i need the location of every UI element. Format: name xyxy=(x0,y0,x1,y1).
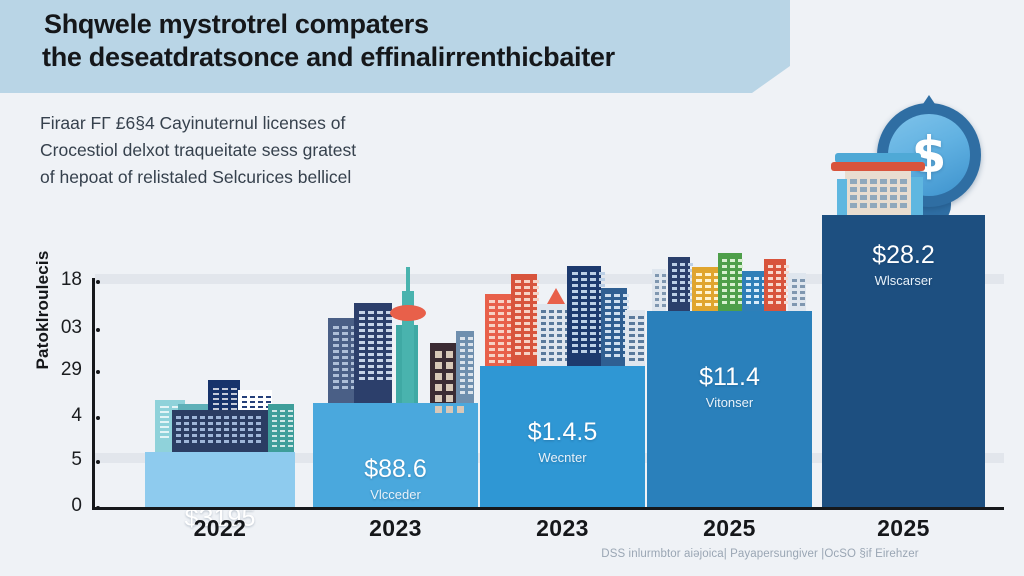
title-line-1: Shqwele mystrotrel compaters xyxy=(42,8,742,41)
building-shape xyxy=(837,179,847,215)
y-axis-title: Patoklroulecis xyxy=(33,205,53,415)
building-shape xyxy=(668,257,690,311)
subtitle-block: Firaar FΓ £6§4 Cayinuternul licenses of … xyxy=(40,110,510,191)
x-axis-line xyxy=(92,507,1004,510)
badge-face: $ xyxy=(888,114,970,196)
y-tick-label: 5 xyxy=(36,449,82,471)
x-tick-label-1: 2023 xyxy=(313,515,478,542)
bar-sub-label: Vitonser xyxy=(647,395,812,410)
building-shape xyxy=(652,269,666,311)
skyline-group xyxy=(485,256,645,366)
y-tick-label: 4 xyxy=(36,405,82,427)
y-tick-label: 03 xyxy=(36,317,82,339)
flag-marker-icon xyxy=(547,288,565,304)
building-shape xyxy=(742,271,764,311)
building-shape xyxy=(178,404,208,452)
building-shape xyxy=(567,266,601,366)
bar-sub-label: Wlscarser xyxy=(822,273,985,288)
tower-shaft xyxy=(402,291,414,403)
building-shape xyxy=(601,288,627,366)
y-tick-mark xyxy=(96,460,100,464)
building-shape xyxy=(625,310,645,366)
badge-ring: $ xyxy=(877,103,981,207)
bar-2023-2[interactable]: $1.4.5Wecnter xyxy=(480,366,645,507)
tower-pod xyxy=(390,305,426,321)
bar-2022-0[interactable]: $З195 xyxy=(145,452,295,507)
gridline-upper xyxy=(95,274,1004,284)
building-shape xyxy=(268,404,294,452)
building-shape xyxy=(692,267,718,311)
building-shape xyxy=(396,325,418,403)
x-tick-label-3: 2025 xyxy=(647,515,812,542)
building-shape xyxy=(155,400,185,452)
building-shape xyxy=(456,331,474,403)
building-shape xyxy=(788,273,806,311)
gridline-lower xyxy=(95,453,1004,463)
bar-value-label: $11.4 xyxy=(647,363,812,392)
y-tick-label: 0 xyxy=(36,495,82,517)
skyline-group xyxy=(318,288,478,403)
subtitle-line-3: of hepoat of relistaled Selcurices belli… xyxy=(40,164,510,191)
bar-value-label: $88.6 xyxy=(313,455,478,484)
y-tick-mark xyxy=(96,416,100,420)
bar-value-label: $З195 xyxy=(145,504,295,533)
y-tick-label: 18 xyxy=(36,269,82,291)
y-axis-line xyxy=(92,278,95,510)
bar-2025-3[interactable]: $11.4Vitonser xyxy=(647,311,812,507)
y-tick-mark xyxy=(96,370,100,374)
bar-2023-1[interactable]: $88.6Vlcceder xyxy=(313,403,478,507)
title-line-2: the deseatdratsonce and effinalirrenthic… xyxy=(42,41,742,74)
building-shape xyxy=(354,303,392,403)
building-shape xyxy=(208,380,240,452)
footer-note: DSS inlurmbtor aiəjoica| Payapersungiver… xyxy=(505,548,1015,560)
infographic-canvas: Shqwele mystrotrel compaters the deseatd… xyxy=(0,0,1024,576)
building-shape xyxy=(328,318,368,403)
subtitle-line-2: Crocestiol delxot traqueitate sess grate… xyxy=(40,137,510,164)
x-tick-label-0: 2022 xyxy=(145,515,295,542)
building-shape xyxy=(764,259,786,311)
tower-spire xyxy=(406,267,410,305)
y-tick-mark xyxy=(96,328,100,332)
building-shape xyxy=(537,304,567,366)
y-tick-label: 29 xyxy=(36,359,82,381)
building-shape xyxy=(718,253,742,311)
bar-2025-4[interactable]: $28.2Wlscarser xyxy=(822,215,985,507)
bar-sub-label: Wecnter xyxy=(480,450,645,465)
x-tick-label-4: 2025 xyxy=(822,515,985,542)
y-tick-mark xyxy=(96,280,100,284)
dollar-icon: $ xyxy=(912,130,947,180)
building-shape xyxy=(430,343,460,403)
badge-spike-top xyxy=(919,95,939,110)
bar-value-label: $28.2 xyxy=(822,241,985,270)
x-tick-label-2: 2023 xyxy=(480,515,645,542)
y-tick-mark xyxy=(96,506,100,510)
building-shape xyxy=(485,294,513,366)
dollar-badge: $ xyxy=(877,103,981,229)
building-shape xyxy=(238,390,272,452)
bar-value-label: $1.4.5 xyxy=(480,418,645,447)
subtitle-line-1: Firaar FΓ £6§4 Cayinuternul licenses of xyxy=(40,110,510,137)
bar-sub-label: Vlcceder xyxy=(313,487,478,502)
skyline-group xyxy=(652,241,812,311)
building-shape xyxy=(511,274,537,366)
building-shape xyxy=(172,410,268,452)
skyline-group xyxy=(150,380,295,452)
page-title: Shqwele mystrotrel compaters the deseatd… xyxy=(42,8,742,74)
